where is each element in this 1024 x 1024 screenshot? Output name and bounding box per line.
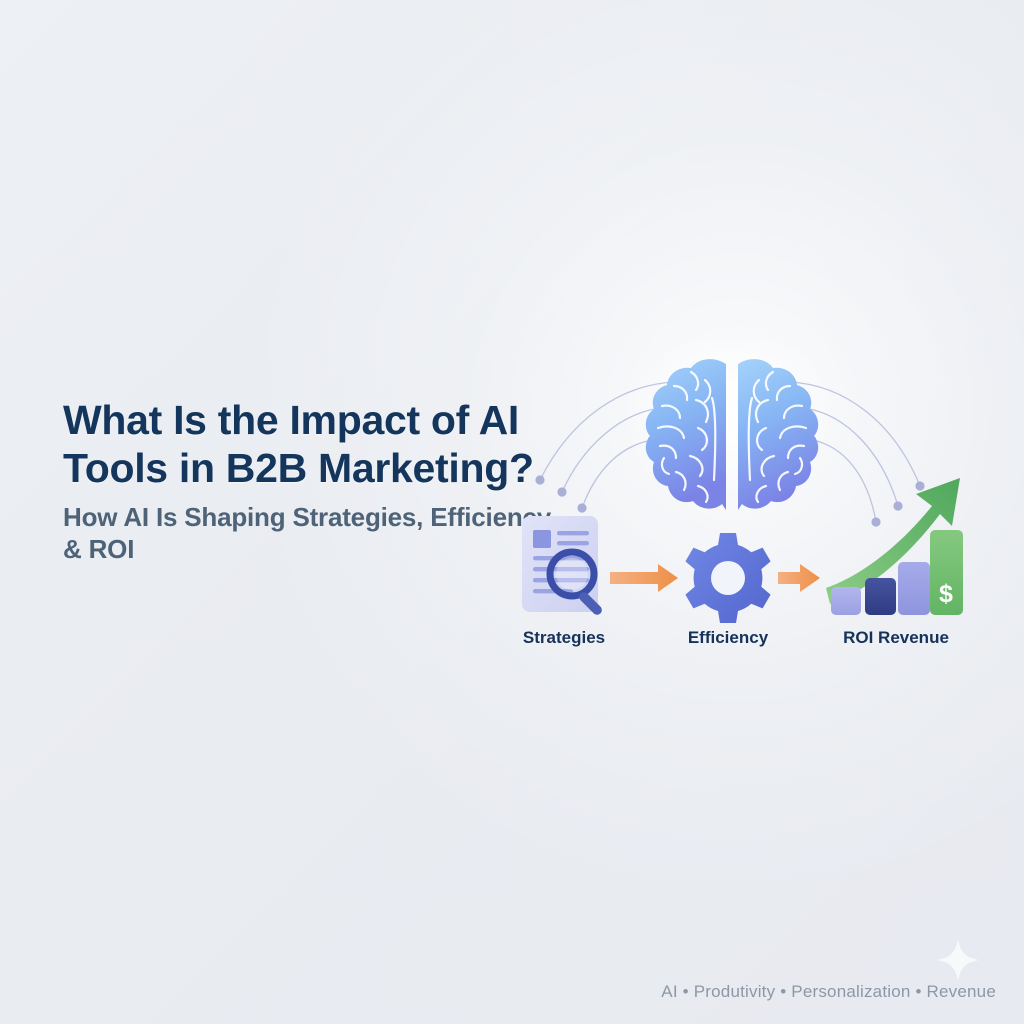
page-title: What Is the Impact of AI Tools in B2B Ma… <box>63 396 563 492</box>
bar-q1 <box>831 587 861 615</box>
bar-q3 <box>898 562 930 615</box>
flow-arrow-1-icon <box>610 564 678 592</box>
bar-chart-growth-icon: $ <box>831 530 963 615</box>
gear-icon <box>685 533 770 623</box>
page-subtitle: How AI Is Shaping Strategies, Efficiency… <box>63 501 563 565</box>
flow-arrow-2-icon <box>778 564 820 592</box>
stage-label-strategies: Strategies <box>523 628 605 648</box>
bar-q2 <box>865 578 896 615</box>
bar-q4-dollar-label: $ <box>939 580 953 608</box>
stage-label-efficiency: Efficiency <box>688 628 768 648</box>
footer-tags: AI • Produtivity • Personalization • Rev… <box>0 982 996 1002</box>
sparkle-icon <box>934 936 982 984</box>
poster-canvas: What Is the Impact of AI Tools in B2B Ma… <box>0 0 1024 1024</box>
headline-block: What Is the Impact of AI Tools in B2B Ma… <box>63 396 563 565</box>
document-search-icon <box>522 516 604 617</box>
stage-label-roi-revenue: ROI Revenue <box>843 628 949 648</box>
ai-flow-illustration: $ <box>500 340 1000 660</box>
